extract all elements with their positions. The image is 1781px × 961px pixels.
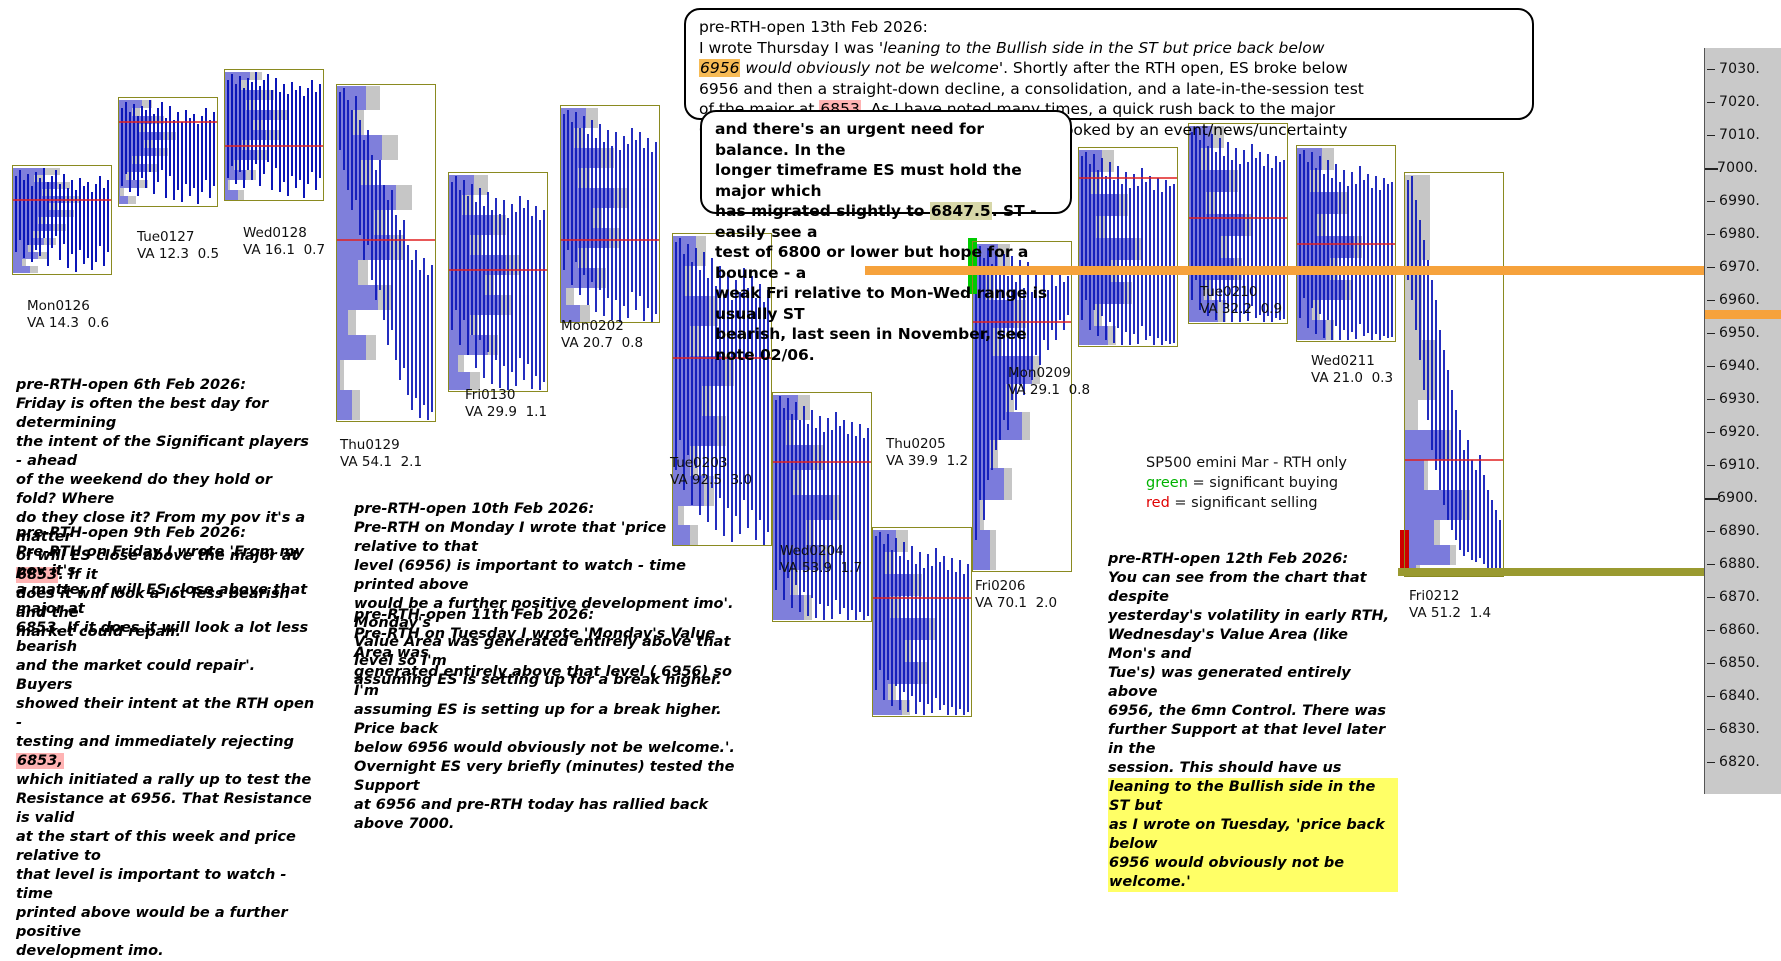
daylabel-thu0205: Thu0205 VA 39.9 1.2 bbox=[886, 436, 968, 470]
callout-feb13-heading: pre-RTH-open 13th Feb 2026: bbox=[699, 17, 1520, 38]
callout-feb13-line3: 6956 and then a straight-down decline, a… bbox=[699, 79, 1520, 100]
legend-key-green: green bbox=[1146, 475, 1188, 491]
note-feb09-heading: pre-RTH-open 9th Feb 2026: bbox=[16, 524, 316, 543]
note-feb09-l4: and the market could repair'. Buyers bbox=[16, 657, 316, 695]
daylabel-text: Mon0126 bbox=[27, 298, 90, 314]
note-feb12-l7: session. This should have us bbox=[1108, 759, 1398, 778]
price-tick-major: 7000. bbox=[1705, 169, 1781, 170]
price-tick: 6950. bbox=[1705, 334, 1781, 335]
price-tick: 7030. bbox=[1705, 70, 1781, 71]
daylabel-mon0209: Mon0209 VA 29.1 0.8 bbox=[1008, 365, 1090, 399]
note-feb09-l5: showed their intent at the RTH open - bbox=[16, 695, 316, 733]
note-feb11-l4: below 6956 would obviously not be welcom… bbox=[354, 739, 744, 758]
note-feb06-l2: the intent of the Significant players - … bbox=[16, 433, 316, 471]
price-tick: 6850. bbox=[1705, 664, 1781, 665]
daybox-wed0211 bbox=[1296, 145, 1396, 342]
daylabel-fri0206: Fri0206 VA 70.1 2.0 bbox=[975, 578, 1057, 612]
daybox-mon0126 bbox=[12, 165, 112, 275]
daylabel-wed0128: Wed0128 VA 16.1 0.7 bbox=[243, 225, 325, 259]
price-tick: 6870. bbox=[1705, 598, 1781, 599]
price-tick: 6820. bbox=[1705, 763, 1781, 764]
daylabel-thu0129: Thu0129 VA 54.1 2.1 bbox=[340, 437, 422, 471]
daybox-thu0205 bbox=[772, 392, 872, 622]
daylabel-tue0203: Tue0203 VA 92.5 3.0 bbox=[670, 455, 752, 489]
daylabel-va: VA 14.3 0.6 bbox=[27, 315, 109, 332]
note-feb12-l9-highlight: as I wrote on Tuesday, 'price back below bbox=[1108, 816, 1398, 854]
daylabel-text: Thu0129 bbox=[340, 437, 400, 453]
note-feb09-l6: testing and immediately rejecting 6853, bbox=[16, 733, 316, 771]
note-feb09-l11: printed above would be a further positiv… bbox=[16, 904, 316, 942]
daylabel-va: VA 12.3 0.5 bbox=[137, 246, 219, 263]
note-feb12-l10-highlight: 6956 would obviously not be welcome.' bbox=[1108, 854, 1398, 892]
price-tick: 6890. bbox=[1705, 532, 1781, 533]
note-feb12-l8-highlight: leaning to the Bullish side in the ST bu… bbox=[1108, 778, 1398, 816]
price-tick: 6840. bbox=[1705, 697, 1781, 698]
daylabel-va: VA 54.1 2.1 bbox=[340, 454, 422, 471]
note-feb10-heading: pre-RTH-open 10th Feb 2026: bbox=[354, 500, 734, 519]
note-feb11-l1: Pre-RTH on Tuesday I wrote 'Monday's Val… bbox=[354, 625, 744, 663]
price-tick: 7020. bbox=[1705, 103, 1781, 104]
daylabel-mon0202: Mon0202 VA 20.7 0.8 bbox=[561, 318, 643, 352]
note-feb12: pre-RTH-open 12th Feb 2026: You can see … bbox=[1108, 550, 1398, 892]
daylabel-text: Fri0130 bbox=[465, 387, 515, 403]
note-feb09-l8: Resistance at 6956. That Resistance is v… bbox=[16, 790, 316, 828]
price-tick: 6860. bbox=[1705, 631, 1781, 632]
daylabel-text: Tue0210 bbox=[1200, 284, 1257, 300]
chart-legend: SP500 emini Mar - RTH only green = signi… bbox=[1146, 453, 1406, 513]
note-feb09-l7: which initiated a rally up to test the bbox=[16, 771, 316, 790]
price-tick: 6930. bbox=[1705, 400, 1781, 401]
legend-key-red: red bbox=[1146, 495, 1170, 511]
daylabel-text: Tue0203 bbox=[670, 455, 727, 471]
note-feb10-l1: Pre-RTH on Monday I wrote that 'price re… bbox=[354, 519, 734, 557]
daylabel-va: VA 53.9 1.7 bbox=[780, 560, 862, 577]
highlight-6853: 6853, bbox=[16, 753, 64, 769]
note-feb12-heading: pre-RTH-open 12th Feb 2026: bbox=[1108, 550, 1398, 569]
daylabel-va: VA 29.1 0.8 bbox=[1008, 382, 1090, 399]
daylabel-va: VA 20.7 0.8 bbox=[561, 335, 643, 352]
daylabel-va: VA 32.2 0.9 bbox=[1200, 301, 1282, 318]
price-tick: 6990. bbox=[1705, 202, 1781, 203]
daybox-mon0202 bbox=[560, 105, 660, 323]
callout-feb13b-line4: test of 6800 or lower but hope for a bou… bbox=[715, 242, 1058, 283]
note-feb12-l2: yesterday's volatility in early RTH, bbox=[1108, 607, 1398, 626]
callout-feb13b-line2: longer timeframe ES must hold the major … bbox=[715, 160, 1058, 201]
price-tick: 6910. bbox=[1705, 466, 1781, 467]
price-tick: 6960. bbox=[1705, 301, 1781, 302]
note-feb06-l3: of the weekend do they hold or fold? Whe… bbox=[16, 471, 316, 509]
note-feb11-l6: at 6956 and pre-RTH today has rallied ba… bbox=[354, 796, 744, 834]
note-feb11-heading: pre-RTH-open 11th Feb 2026: bbox=[354, 606, 744, 625]
daylabel-va: VA 51.2 1.4 bbox=[1409, 605, 1491, 622]
note-feb09-l9: at the start of this week and price rela… bbox=[16, 828, 316, 866]
price-tick: 6940. bbox=[1705, 367, 1781, 368]
daylabel-va: VA 29.9 1.1 bbox=[465, 404, 547, 421]
note-feb11-l3: assuming ES is setting up for a break hi… bbox=[354, 701, 744, 739]
callout-feb13b-line1: and there's an urgent need for balance. … bbox=[715, 119, 1058, 160]
daylabel-va: VA 16.1 0.7 bbox=[243, 242, 325, 259]
daylabel-text: Fri0206 bbox=[975, 578, 1025, 594]
price-tick: 6970. bbox=[1705, 268, 1781, 269]
highlight-6956: 6956 bbox=[699, 59, 740, 77]
reference-line-6847-olive bbox=[1398, 568, 1705, 576]
note-feb09-l12: development imo. bbox=[16, 942, 316, 961]
daylabel-text: Fri0212 bbox=[1409, 588, 1459, 604]
legend-row-selling: red = significant selling bbox=[1146, 493, 1406, 513]
price-tick: 6830. bbox=[1705, 730, 1781, 731]
note-feb11: pre-RTH-open 11th Feb 2026: Pre-RTH on T… bbox=[354, 606, 744, 834]
daylabel-tue0210: Tue0210 VA 32.2 0.9 bbox=[1200, 284, 1282, 318]
daylabel-fri0130: Fri0130 VA 29.9 1.1 bbox=[465, 387, 547, 421]
callout-feb13: pre-RTH-open 13th Feb 2026: I wrote Thur… bbox=[684, 8, 1534, 120]
note-feb06-l1: Friday is often the best day for determi… bbox=[16, 395, 316, 433]
note-feb09-l2: a matter of will ES close above that maj… bbox=[16, 581, 316, 619]
note-feb11-l2: generated entirely above that level ( 69… bbox=[354, 663, 744, 701]
callout-feb13b-line6: bearish, last seen in November, see note… bbox=[715, 324, 1058, 365]
daylabel-tue0127: Tue0127 VA 12.3 0.5 bbox=[137, 229, 219, 263]
note-feb12-l6: further Support at that level later in t… bbox=[1108, 721, 1398, 759]
note-feb12-l5: 6956, the 6mn Control. There was bbox=[1108, 702, 1398, 721]
daybox-mon0209 bbox=[1078, 147, 1178, 347]
price-tick: 6980. bbox=[1705, 235, 1781, 236]
highlight-6847-5: 6847.5 bbox=[930, 202, 992, 220]
note-feb12-l3: Wednesday's Value Area (like Mon's and bbox=[1108, 626, 1398, 664]
note-feb11-l5: Overnight ES very briefly (minutes) test… bbox=[354, 758, 744, 796]
note-feb09-l10: that level is important to watch - time bbox=[16, 866, 316, 904]
daybox-wed0128 bbox=[224, 69, 324, 201]
daylabel-wed0211: Wed0211 VA 21.0 0.3 bbox=[1311, 353, 1393, 387]
daylabel-mon0126: Mon0126 VA 14.3 0.6 bbox=[27, 298, 109, 332]
daylabel-text: Thu0205 bbox=[886, 436, 946, 452]
callout-feb13b-line5: weak Fri relative to Mon-Wed range is us… bbox=[715, 283, 1058, 324]
note-feb12-l1: You can see from the chart that despite bbox=[1108, 569, 1398, 607]
note-feb09: pre-RTH-open 9th Feb 2026: Pre-RTH on Fr… bbox=[16, 524, 316, 961]
daylabel-text: Wed0204 bbox=[780, 543, 844, 559]
daybox-thu0129 bbox=[336, 84, 436, 422]
callout-feb13-line2: 6956 would obviously not be welcome'. Sh… bbox=[699, 58, 1520, 79]
legend-row-buying: green = significant buying bbox=[1146, 473, 1406, 493]
price-tick: 6920. bbox=[1705, 433, 1781, 434]
chart-root: Mon0126 VA 14.3 0.6 Tue0127 VA 12.3 0.5 … bbox=[0, 0, 1781, 821]
note-feb09-l1: Pre-RTH on Friday I wrote 'From my pov i… bbox=[16, 543, 316, 581]
note-feb09-l3: 6853. If it does it will look a lot less… bbox=[16, 619, 316, 657]
daylabel-va: VA 21.0 0.3 bbox=[1311, 370, 1393, 387]
daylabel-text: Wed0211 bbox=[1311, 353, 1375, 369]
daylabel-text: Mon0202 bbox=[561, 318, 624, 334]
callout-feb13-line1: I wrote Thursday I was 'leaning to the B… bbox=[699, 38, 1520, 59]
daylabel-va: VA 39.9 1.2 bbox=[886, 453, 968, 470]
price-tick: 6880. bbox=[1705, 565, 1781, 566]
note-feb12-l4: Tue's) was generated entirely above bbox=[1108, 664, 1398, 702]
price-marker-6956 bbox=[1705, 310, 1781, 319]
callout-feb13-continued: and there's an urgent need for balance. … bbox=[700, 110, 1072, 214]
daybox-tue0127 bbox=[118, 97, 218, 207]
daylabel-wed0204: Wed0204 VA 53.9 1.7 bbox=[780, 543, 862, 577]
daylabel-text: Tue0127 bbox=[137, 229, 194, 245]
price-tick: 7010. bbox=[1705, 136, 1781, 137]
legend-title: SP500 emini Mar - RTH only bbox=[1146, 453, 1406, 473]
daylabel-text: Mon0209 bbox=[1008, 365, 1071, 381]
daylabel-va: VA 92.5 3.0 bbox=[670, 472, 752, 489]
price-axis[interactable]: 7030. 7020. 7010. 7000. 6990. 6980. 6970… bbox=[1704, 48, 1781, 794]
daybox-wed0204 bbox=[872, 527, 972, 717]
daylabel-text: Wed0128 bbox=[243, 225, 307, 241]
daybox-fri0212 bbox=[1404, 172, 1504, 577]
note-feb06-heading: pre-RTH-open 6th Feb 2026: bbox=[16, 376, 316, 395]
daylabel-fri0212: Fri0212 VA 51.2 1.4 bbox=[1409, 588, 1491, 622]
daybox-fri0130 bbox=[448, 172, 548, 392]
note-feb10-l2: level (6956) is important to watch - tim… bbox=[354, 557, 734, 595]
price-tick-major: 6900. bbox=[1705, 499, 1781, 500]
daylabel-va: VA 70.1 2.0 bbox=[975, 595, 1057, 612]
callout-feb13b-line3: has migrated slightly to 6847.5. ST - ea… bbox=[715, 201, 1058, 242]
